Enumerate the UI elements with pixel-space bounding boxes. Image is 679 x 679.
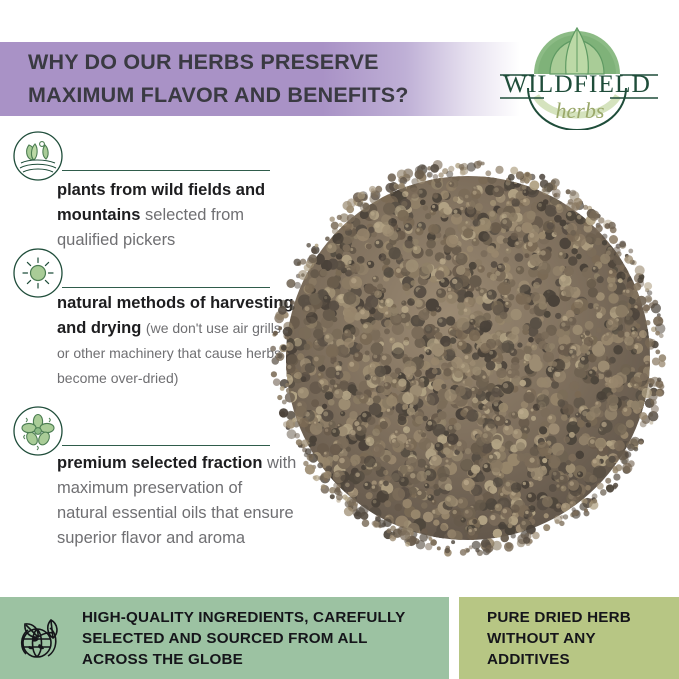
banner-pure-text: PURE DRIED HERB WITHOUT ANY ADDITIVES: [487, 607, 631, 670]
feature-text: premium selected fraction with maximum p…: [57, 451, 297, 551]
feature-lead: premium selected fraction: [57, 454, 267, 472]
banner-pure: PURE DRIED HERB WITHOUT ANY ADDITIVES: [459, 597, 679, 679]
feature-divider: [62, 445, 270, 446]
logo-brand-script: herbs: [556, 98, 605, 123]
herb-rosette-icon: [12, 405, 64, 457]
brand-logo: WILDFIELD herbs: [488, 18, 666, 130]
bottom-banners: HIGH-QUALITY INGREDIENTS, CAREFULLY SELE…: [0, 597, 679, 679]
feature-text: plants from wild fields and mountains se…: [57, 178, 297, 253]
feature-text: natural methods of harvesting and drying…: [57, 291, 297, 391]
logo-brand-name: WILDFIELD: [503, 69, 651, 98]
banner-quality: HIGH-QUALITY INGREDIENTS, CAREFULLY SELE…: [0, 597, 449, 679]
feature-item: premium selected fraction with maximum p…: [0, 403, 300, 459]
banner-quality-text: HIGH-QUALITY INGREDIENTS, CAREFULLY SELE…: [82, 607, 405, 670]
globe-leaf-icon: [12, 610, 68, 666]
feature-item: plants from wild fields and mountains se…: [0, 128, 300, 184]
feature-header: [0, 128, 300, 184]
feature-item: natural methods of harvesting and drying…: [0, 245, 300, 301]
feature-divider: [62, 287, 270, 288]
product-image: [268, 158, 668, 558]
feature-divider: [62, 170, 270, 171]
page-title: WHY DO OUR HERBS PRESERVE MAXIMUM FLAVOR…: [28, 46, 488, 112]
field-plants-icon: [12, 130, 64, 182]
